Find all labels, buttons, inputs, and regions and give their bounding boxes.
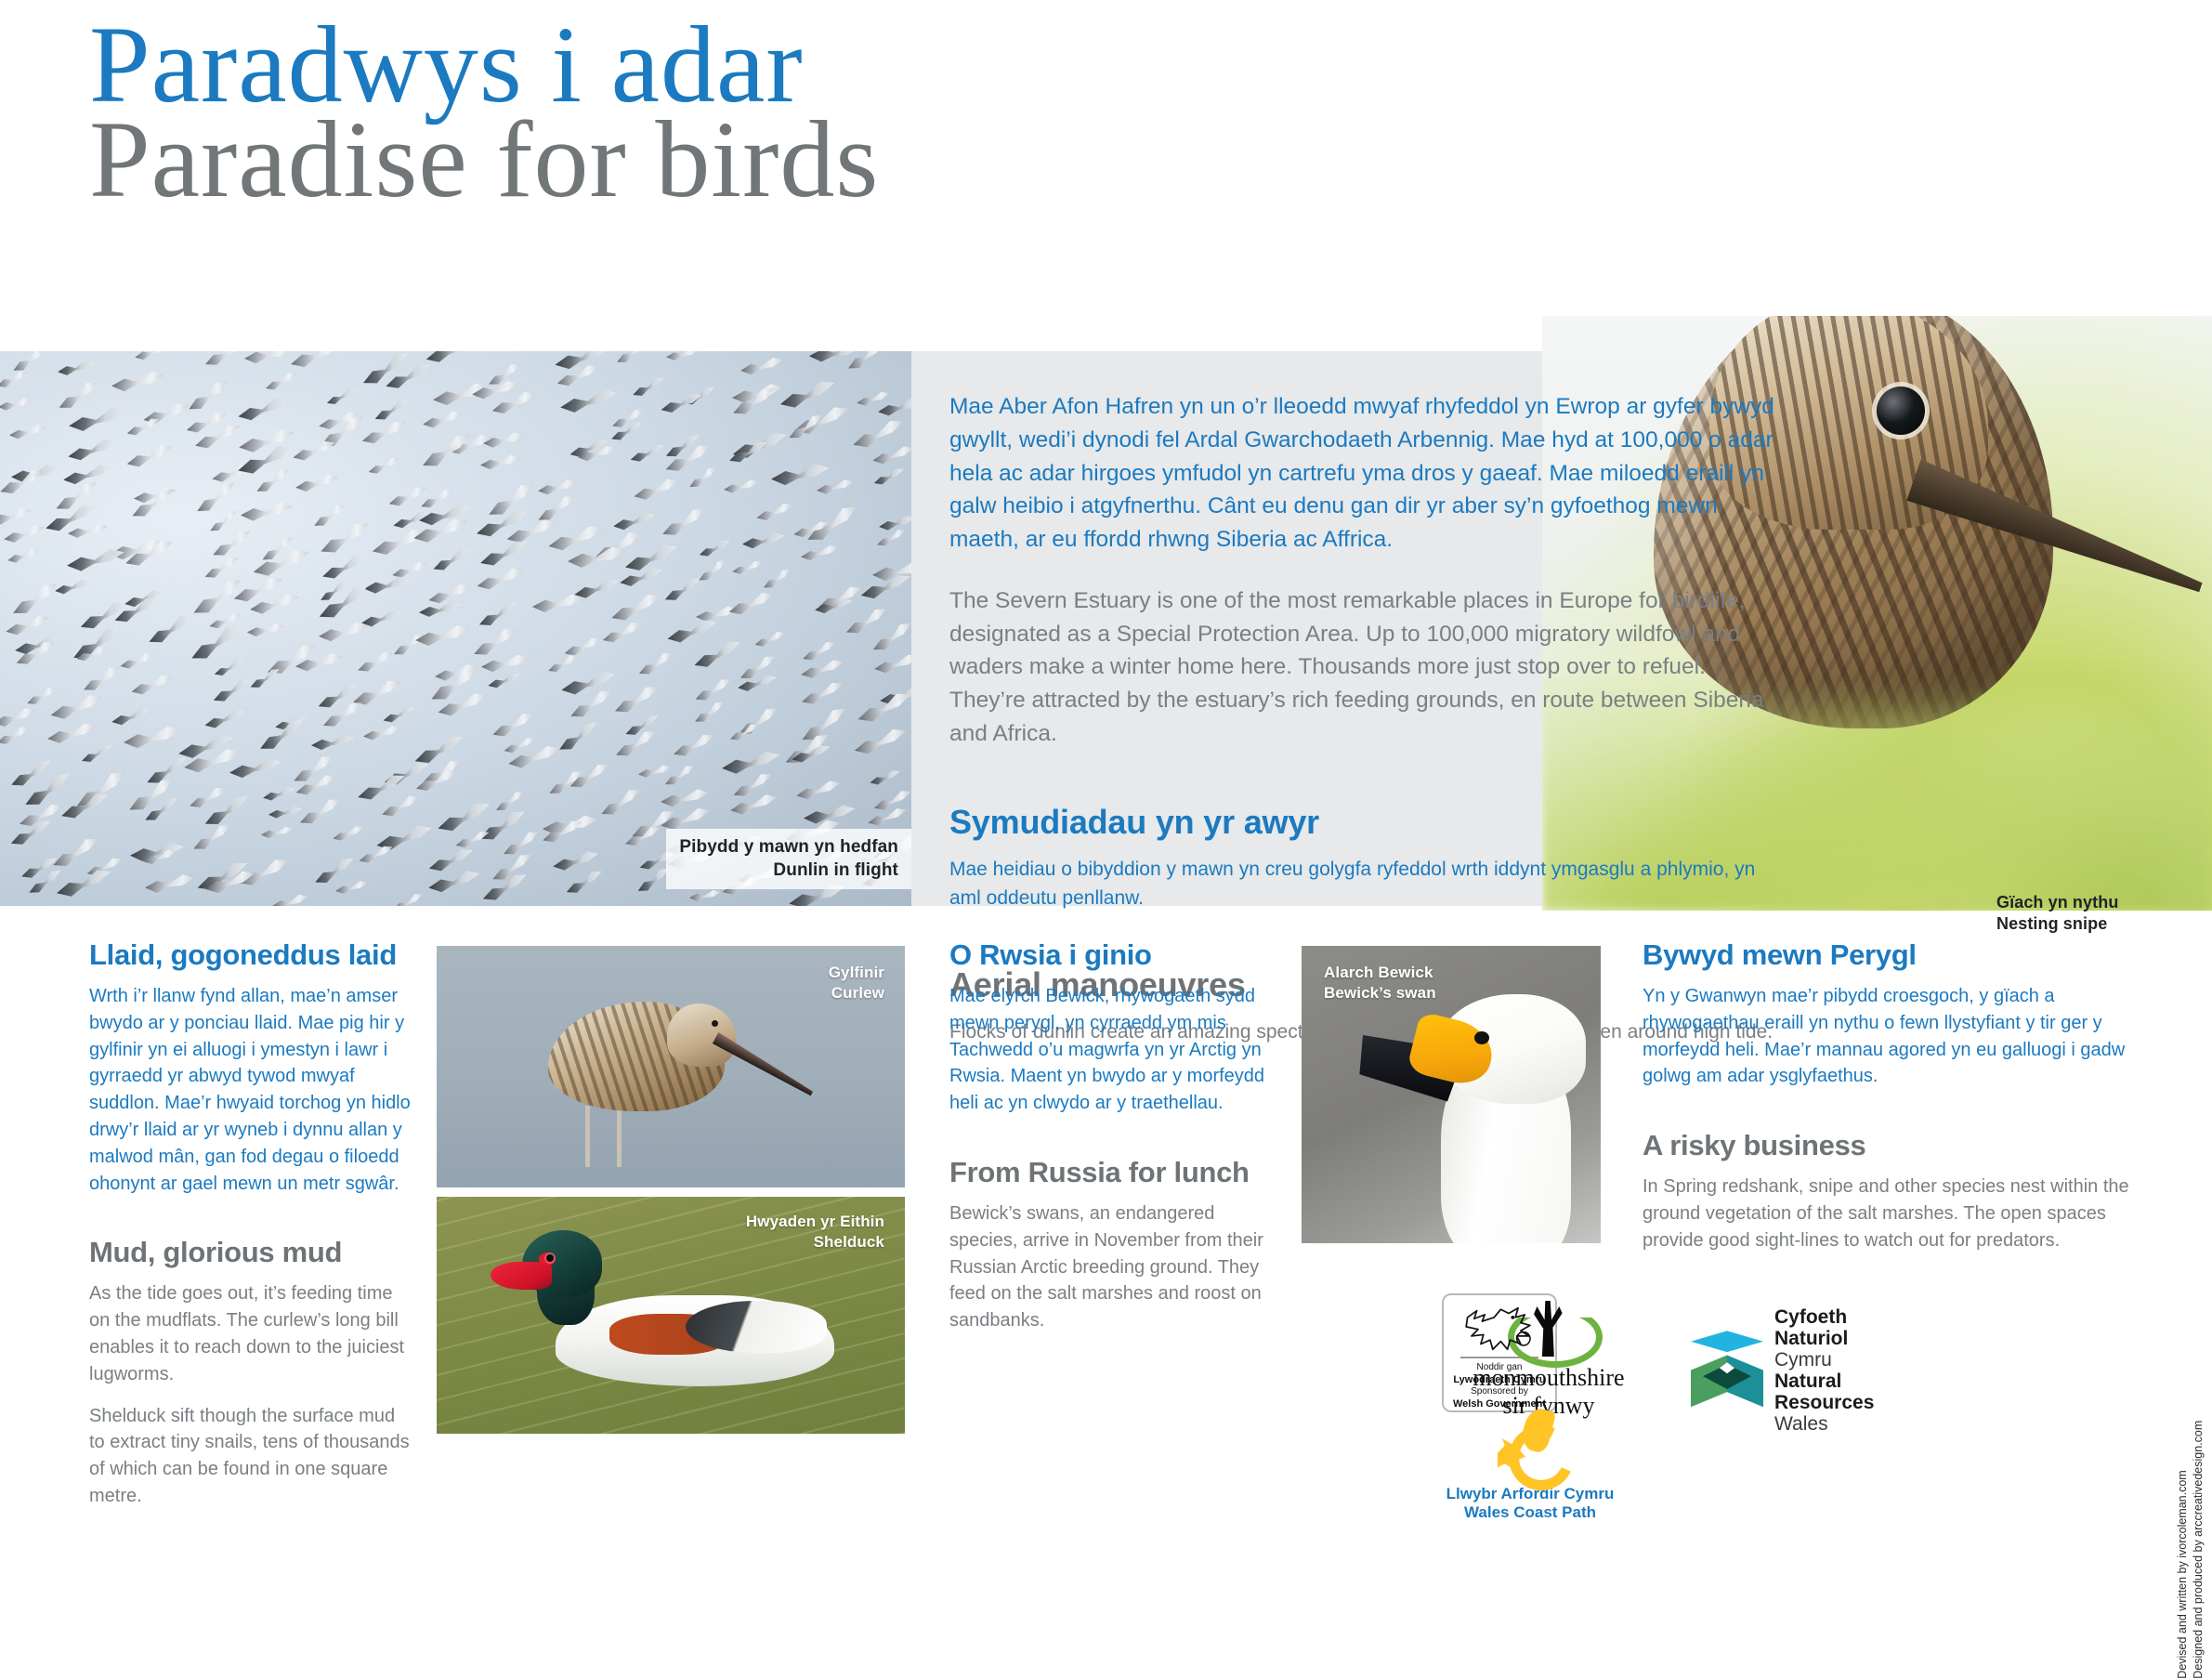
dunlin-bird xyxy=(421,408,465,434)
dunlin-bird xyxy=(129,672,177,702)
dunlin-bird-shape xyxy=(334,878,370,899)
dunlin-bird xyxy=(479,453,522,475)
page-title: Paradwys i adar Paradise for birds xyxy=(89,9,879,216)
mud-body-english-2: Shelduck sift though the surface mud to … xyxy=(89,1403,414,1510)
dunlin-bird-shape xyxy=(80,662,125,699)
dunlin-bird-shape xyxy=(754,500,795,527)
russia-body-welsh: Mae elyrch Bewick, rhywogaeth sydd mewn … xyxy=(949,983,1265,1117)
dunlin-bird xyxy=(418,429,478,478)
dunlin-bird-shape xyxy=(291,438,339,468)
dunlin-bird xyxy=(530,592,584,620)
dunlin-bird xyxy=(697,537,733,562)
dunlin-bird-shape xyxy=(203,706,248,735)
nrw-line3: Cymru xyxy=(1774,1349,1874,1371)
caption-shelduck: Hwyaden yr Eithin Shelduck xyxy=(733,1204,897,1260)
dunlin-bird xyxy=(263,369,300,396)
dunlin-bird xyxy=(367,454,403,479)
dunlin-bird-shape xyxy=(268,804,303,822)
intro-paragraph-english: The Severn Estuary is one of the most re… xyxy=(949,584,1786,751)
nrw-line1: Cyfoeth xyxy=(1774,1306,1874,1328)
dunlin-bird xyxy=(630,374,668,402)
dunlin-bird-shape xyxy=(124,441,177,476)
dunlin-bird xyxy=(632,475,683,507)
dunlin-bird xyxy=(310,732,356,755)
dunlin-bird-shape xyxy=(424,351,479,371)
dunlin-bird xyxy=(243,351,294,370)
russia-body-english: Bewick’s swans, an endangered species, a… xyxy=(949,1200,1265,1334)
dunlin-bird-shape xyxy=(133,351,170,366)
dunlin-bird-shape xyxy=(662,574,707,609)
dunlin-bird-shape xyxy=(390,890,426,906)
nrw-cube-icon xyxy=(1691,1331,1763,1410)
dunlin-bird-shape xyxy=(0,397,33,415)
dunlin-bird xyxy=(246,621,286,641)
nrw-wordmark: Cyfoeth Naturiol Cymru Natural Resources… xyxy=(1774,1306,1874,1436)
wales-coast-path-logo: Llwybr Arfordir Cymru Wales Coast Path xyxy=(1442,1412,1618,1523)
dunlin-bird xyxy=(262,784,298,806)
dunlin-bird-shape xyxy=(122,723,183,756)
dunlin-bird xyxy=(355,648,398,679)
dunlin-bird xyxy=(269,892,310,906)
dunlin-bird xyxy=(124,441,177,476)
dunlin-bird xyxy=(334,878,370,899)
aerial-body-welsh: Mae heidiau o bibyddion y mawn yn creu g… xyxy=(949,855,1786,913)
russia-text-column: O Rwsia i ginio Mae elyrch Bewick, rhywo… xyxy=(949,938,1265,1349)
shelduck-bill xyxy=(491,1262,552,1290)
dunlin-bird-shape xyxy=(294,472,341,498)
dunlin-bird xyxy=(8,422,48,443)
dunlin-bird-shape xyxy=(632,475,683,507)
dunlin-bird xyxy=(629,441,669,468)
dunlin-bird xyxy=(65,545,127,580)
dunlin-bird-shape xyxy=(260,825,294,843)
dunlin-bird xyxy=(659,504,712,544)
dunlin-bird-shape xyxy=(671,730,719,765)
dunlin-bird xyxy=(203,706,248,735)
caption-snipe-english: Nesting snipe xyxy=(1996,913,2118,935)
swan-eye xyxy=(1474,1031,1489,1044)
dunlin-bird-shape xyxy=(795,778,844,807)
dunlin-bird xyxy=(0,397,33,415)
dunlin-bird-shape xyxy=(79,742,115,769)
dunlin-bird xyxy=(689,888,723,906)
dunlin-bird-shape xyxy=(741,531,787,555)
dunlin-bird-shape xyxy=(56,358,97,381)
dunlin-bird-shape xyxy=(753,629,788,652)
caption-snipe: Gïach yn nythu Nesting snipe xyxy=(1983,885,2131,943)
credit-line1: Devised and written by ivorcoleman.com xyxy=(2175,1421,2191,1679)
dunlin-bird-shape xyxy=(357,843,396,869)
bewicks-swan-photo: Alarch Bewick Bewick’s swan xyxy=(1302,946,1601,1243)
caption-dunlin-welsh: Pibydd y mawn yn hedfan xyxy=(679,836,898,859)
shelduck-eye xyxy=(546,1254,554,1262)
dunlin-bird xyxy=(635,649,677,682)
dunlin-bird xyxy=(390,890,426,906)
dunlin-bird xyxy=(67,522,109,544)
risky-heading-welsh: Bywyd mewn Perygl xyxy=(1643,938,2135,972)
dunlin-bird xyxy=(7,546,42,569)
dunlin-bird xyxy=(546,767,589,801)
dunlin-bird xyxy=(567,544,628,576)
dunlin-bird-shape xyxy=(331,823,366,846)
dunlin-bird-shape xyxy=(65,545,127,580)
dunlin-bird xyxy=(430,544,474,578)
dunlin-bird xyxy=(665,616,721,651)
dunlin-bird-shape xyxy=(0,466,48,503)
dunlin-bird xyxy=(800,543,841,566)
risky-text-column: Bywyd mewn Perygl Yn y Gwanwyn mae’r pib… xyxy=(1643,938,2135,1269)
caption-swan-welsh: Alarch Bewick xyxy=(1324,963,1436,983)
caption-shelduck-english: Shelduck xyxy=(746,1232,884,1253)
dunlin-bird-shape xyxy=(246,621,286,641)
dunlin-bird-shape xyxy=(269,892,310,906)
dunlin-bird-shape xyxy=(124,415,163,441)
dunlin-bird-shape xyxy=(236,394,292,428)
mud-heading-welsh: Llaid, gogoneddus laid xyxy=(89,938,414,972)
caption-dunlin-english: Dunlin in flight xyxy=(679,859,898,883)
dunlin-bird xyxy=(80,662,125,699)
dunlin-bird xyxy=(291,438,339,468)
dunlin-bird-shape xyxy=(0,368,32,394)
dunlin-bird-shape xyxy=(184,375,234,418)
shelduck-wing xyxy=(686,1301,827,1353)
natural-resources-wales-logo: Cyfoeth Naturiol Cymru Natural Resources… xyxy=(1691,1306,1874,1436)
dunlin-bird-shape xyxy=(240,500,294,529)
dunlin-bird xyxy=(325,386,360,411)
dunlin-bird-shape xyxy=(129,672,177,702)
dunlin-bird-shape xyxy=(689,888,723,906)
coast-path-line2: Wales Coast Path xyxy=(1442,1503,1618,1522)
caption-curlew-welsh: Gylfinir xyxy=(829,963,884,983)
nrw-line6: Wales xyxy=(1774,1413,1874,1435)
dunlin-bird-shape xyxy=(800,543,841,566)
caption-snipe-welsh: Gïach yn nythu xyxy=(1996,892,2118,913)
dunlin-flock-birds xyxy=(0,351,911,906)
dunlin-bird-shape xyxy=(418,429,478,478)
caption-curlew: Gylfinir Curlew xyxy=(816,955,897,1011)
intro-paragraph-welsh: Mae Aber Afon Hafren yn un o’r lleoedd m… xyxy=(949,390,1786,557)
dunlin-bird-shape xyxy=(723,478,760,498)
dunlin-bird xyxy=(240,500,294,529)
caption-dunlin: Pibydd y mawn yn hedfan Dunlin in flight xyxy=(666,829,911,889)
nrw-line4: Natural xyxy=(1774,1371,1874,1392)
credit-text: Devised and written by ivorcoleman.com D… xyxy=(2175,1421,2206,1679)
dunlin-bird-shape xyxy=(665,616,721,651)
russia-heading-english: From Russia for lunch xyxy=(949,1156,1265,1189)
dunlin-bird xyxy=(723,478,760,498)
risky-body-english: In Spring redshank, snipe and other spec… xyxy=(1643,1174,2135,1253)
dunlin-bird xyxy=(53,577,92,599)
dunlin-bird-shape xyxy=(310,732,356,755)
dunlin-bird xyxy=(671,730,719,765)
aerial-heading-welsh: Symudiadau yn yr awyr xyxy=(949,803,1786,842)
monmouthshire-logo-line1: monmouthshire xyxy=(1442,1364,1656,1392)
dunlin-bird-shape xyxy=(367,454,403,479)
nrw-line5: Resources xyxy=(1774,1392,1874,1413)
dunlin-bird xyxy=(110,369,166,399)
dunlin-bird xyxy=(795,778,844,807)
dunlin-bird-shape xyxy=(852,725,911,764)
dunlin-bird-shape xyxy=(413,622,472,653)
caption-shelduck-welsh: Hwyaden yr Eithin xyxy=(746,1212,884,1232)
dunlin-bird-shape xyxy=(110,369,166,399)
dunlin-bird-shape xyxy=(869,767,903,790)
dunlin-bird-shape xyxy=(530,592,584,620)
dunlin-bird-shape xyxy=(659,390,705,420)
curlew-photo: Gylfinir Curlew xyxy=(437,946,905,1187)
dunlin-bird xyxy=(260,825,294,843)
dunlin-bird-shape xyxy=(119,650,157,675)
shelduck-photo: Hwyaden yr Eithin Shelduck xyxy=(437,1197,905,1434)
caption-curlew-english: Curlew xyxy=(829,983,884,1003)
dunlin-bird-shape xyxy=(66,435,120,467)
dunlin-bird-shape xyxy=(665,351,700,365)
curlew-legs xyxy=(576,1106,650,1167)
mud-body-welsh: Wrth i’r llanw fynd allan, mae’n amser b… xyxy=(89,983,414,1197)
mud-body-english-1: As the tide goes out, it’s feeding time … xyxy=(89,1280,414,1387)
dunlin-bird-shape xyxy=(7,546,42,569)
interpretive-sign-panel: Paradwys i adar Paradise for birds Pibyd… xyxy=(0,0,2212,1434)
dunlin-bird-shape xyxy=(739,355,785,382)
dunlin-bird xyxy=(184,375,234,418)
dunlin-bird xyxy=(665,351,700,365)
risky-body-welsh: Yn y Gwanwyn mae’r pibydd croesgoch, y g… xyxy=(1643,983,2135,1090)
russia-heading-welsh: O Rwsia i ginio xyxy=(949,938,1265,972)
dunlin-bird-shape xyxy=(614,351,652,370)
dunlin-bird xyxy=(294,472,341,498)
dunlin-bird-shape xyxy=(53,577,92,599)
dunlin-bird xyxy=(662,574,707,609)
dunlin-bird xyxy=(119,650,157,675)
dunlin-bird-shape xyxy=(546,767,589,801)
dunlin-bird-shape xyxy=(479,453,522,475)
dunlin-bird xyxy=(731,558,766,579)
dunlin-bird xyxy=(413,622,472,653)
coast-path-shell-icon xyxy=(1496,1412,1564,1481)
dunlin-bird xyxy=(424,351,479,371)
dunlin-bird xyxy=(0,368,32,394)
dunlin-bird xyxy=(741,531,787,555)
dunlin-bird-shape xyxy=(263,369,300,396)
dunlin-bird xyxy=(739,355,785,382)
dunlin-bird-shape xyxy=(546,651,582,678)
dunlin-bird-shape xyxy=(731,558,766,579)
snipe-eye xyxy=(1877,387,1925,435)
dunlin-bird-shape xyxy=(635,649,677,682)
dunlin-bird-shape xyxy=(243,351,294,370)
page-title-english: Paradise for birds xyxy=(89,104,879,216)
dunlin-bird xyxy=(143,872,196,899)
caption-swan-english: Bewick’s swan xyxy=(1324,983,1436,1003)
credit-line2: Designed and produced by arccreativedesi… xyxy=(2191,1421,2206,1679)
dunlin-flock-photo: Pibydd y mawn yn hedfan Dunlin in flight xyxy=(0,351,911,906)
dunlin-bird-shape xyxy=(629,441,669,468)
dunlin-bird-shape xyxy=(421,408,465,434)
dunlin-bird xyxy=(597,784,647,823)
dunlin-bird xyxy=(133,351,170,366)
dunlin-bird-shape xyxy=(630,374,668,402)
dunlin-bird xyxy=(753,629,788,652)
dunlin-bird xyxy=(754,500,795,527)
dunlin-bird xyxy=(869,767,903,790)
dunlin-bird xyxy=(124,415,163,441)
dunlin-bird-shape xyxy=(362,724,402,746)
dunlin-bird xyxy=(614,351,652,370)
dunlin-bird xyxy=(268,804,303,822)
logo-bar: monmouthshire sir fynwy Cyfoeth Naturiol… xyxy=(1442,1293,2166,1423)
dunlin-bird xyxy=(659,390,705,420)
dunlin-bird xyxy=(418,599,463,623)
dunlin-bird xyxy=(546,651,582,678)
dunlin-bird xyxy=(362,724,402,746)
dunlin-bird-shape xyxy=(597,784,647,823)
dunlin-bird-shape xyxy=(8,422,48,443)
dunlin-bird xyxy=(852,725,911,764)
dunlin-bird-shape xyxy=(67,522,109,544)
dunlin-bird xyxy=(0,466,48,503)
dunlin-bird xyxy=(331,823,366,846)
dunlin-bird-shape xyxy=(697,537,733,562)
dunlin-bird-shape xyxy=(262,784,298,806)
caption-swan: Alarch Bewick Bewick’s swan xyxy=(1311,955,1449,1011)
dunlin-bird xyxy=(56,358,97,381)
risky-heading-english: A risky business xyxy=(1643,1129,2135,1162)
dunlin-bird xyxy=(357,843,396,869)
dunlin-bird-shape xyxy=(659,504,712,544)
dunlin-bird-shape xyxy=(143,872,196,899)
dunlin-bird-shape xyxy=(726,588,778,623)
dunlin-bird-shape xyxy=(567,544,628,576)
mud-heading-english: Mud, glorious mud xyxy=(89,1236,414,1269)
dunlin-bird-shape xyxy=(355,648,398,679)
mud-text-column: Llaid, gogoneddus laid Wrth i’r llanw fy… xyxy=(89,938,414,1525)
dunlin-bird-shape xyxy=(430,544,474,578)
nrw-line2: Naturiol xyxy=(1774,1328,1874,1349)
dunlin-bird xyxy=(236,394,292,428)
dunlin-bird xyxy=(726,588,778,623)
dunlin-bird xyxy=(66,435,120,467)
dunlin-bird-shape xyxy=(325,386,360,411)
welsh-dragon-icon xyxy=(1459,1303,1539,1355)
dunlin-bird xyxy=(122,723,183,756)
dunlin-bird-shape xyxy=(418,599,463,623)
curlew-eye xyxy=(712,1020,718,1027)
dunlin-bird xyxy=(79,742,115,769)
